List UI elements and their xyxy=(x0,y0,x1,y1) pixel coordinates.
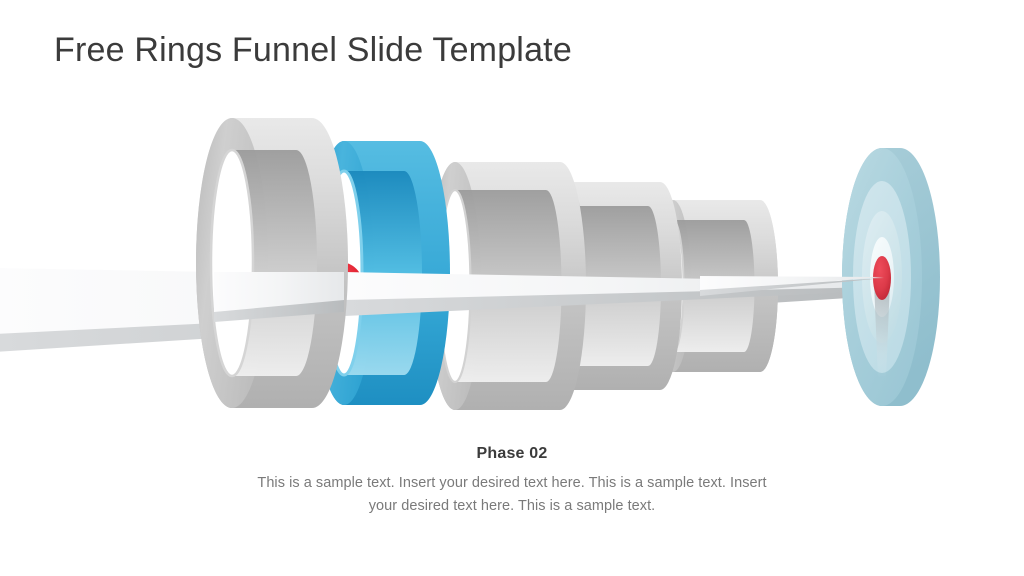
caption-block: Phase 02 This is a sample text. Insert y… xyxy=(0,444,1024,519)
ring-1[interactable] xyxy=(196,118,348,408)
slide-canvas: Free Rings Funnel Slide Template xyxy=(0,0,1024,576)
phase-label: Phase 02 xyxy=(0,444,1024,464)
target-bullseye-center xyxy=(873,256,891,300)
phase-description: This is a sample text. Insert your desir… xyxy=(252,472,772,519)
